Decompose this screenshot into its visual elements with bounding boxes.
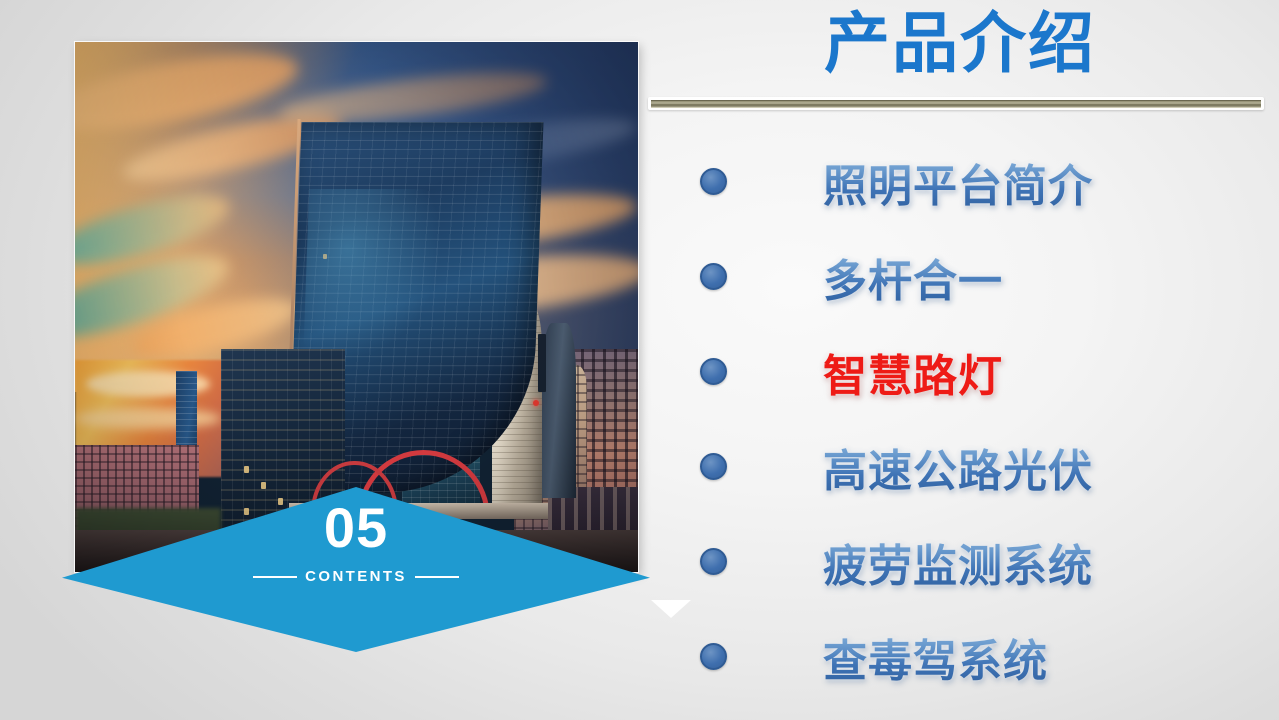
window-light [323, 254, 327, 259]
caption-rule-right [415, 576, 459, 578]
tower-slot [538, 334, 546, 392]
list-item-label: 高速公路光伏 [823, 435, 1093, 499]
bullet-icon [700, 548, 727, 575]
bullet-icon [700, 168, 727, 195]
bullet-icon [700, 453, 727, 480]
title-divider [648, 97, 1264, 110]
section-number: 05 [62, 500, 650, 556]
list-item-active[interactable]: 智慧路灯 [700, 324, 1270, 419]
window-light [244, 466, 249, 473]
cloud [75, 408, 221, 429]
list-item-label: 智慧路灯 [823, 340, 1003, 404]
list-item[interactable]: 高速公路光伏 [700, 419, 1270, 514]
list-item-label: 疲劳监测系统 [823, 530, 1093, 594]
list-item-label: 查毒驾系统 [823, 625, 1048, 689]
cylinder-tower [542, 323, 576, 498]
list-item[interactable]: 多杆合一 [700, 229, 1270, 324]
triangle-down-icon [651, 600, 691, 618]
list-item-label: 多杆合一 [823, 245, 1003, 309]
bullet-icon [700, 263, 727, 290]
slide-canvas: 05 CONTENTS 产品介绍 照明平台简介 多杆合一 智慧路灯 高速公路光伏 [0, 0, 1279, 720]
list-item[interactable]: 照明平台简介 [700, 134, 1270, 229]
caption-rule-left [253, 576, 297, 578]
list-item[interactable]: 疲劳监测系统 [700, 514, 1270, 609]
contents-label: CONTENTS [305, 568, 407, 585]
window-light [261, 482, 266, 489]
bullet-icon [700, 643, 727, 670]
agenda-list: 照明平台简介 多杆合一 智慧路灯 高速公路光伏 疲劳监测系统 查毒驾系统 [700, 134, 1270, 704]
page-title: 产品介绍 [650, 6, 1270, 82]
list-item[interactable]: 查毒驾系统 [700, 609, 1270, 704]
list-item-label: 照明平台简介 [823, 150, 1093, 214]
bullet-icon [700, 358, 727, 385]
divider-bevel [651, 100, 1261, 108]
contents-caption: CONTENTS [62, 568, 650, 585]
